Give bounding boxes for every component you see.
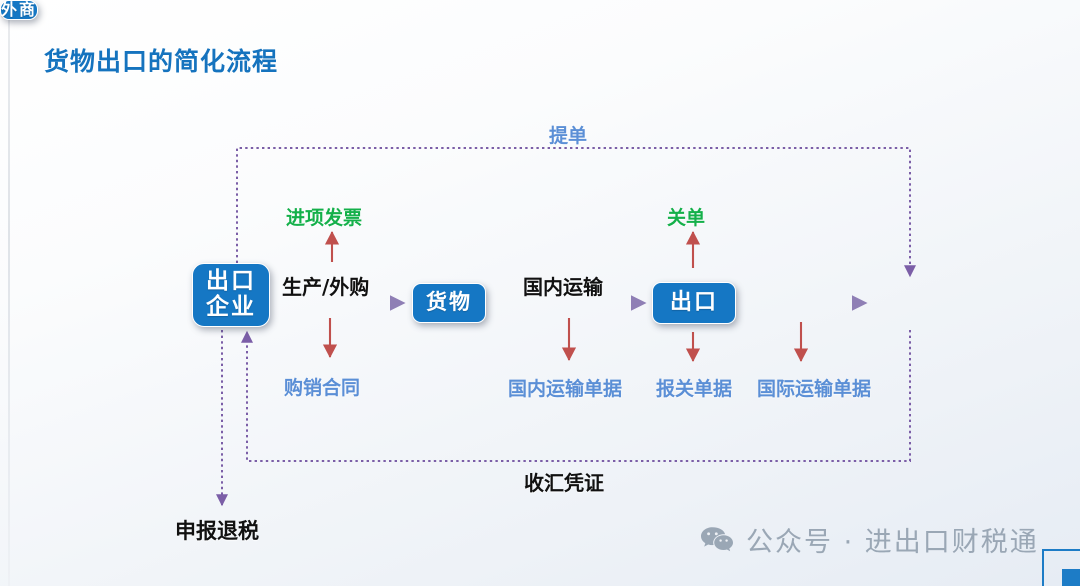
label-international-transport-doc: 国际运输单据	[757, 374, 871, 401]
wechat-icon	[700, 526, 734, 554]
label-fx-receipt-voucher: 收汇凭证	[524, 467, 604, 496]
node-exporter[interactable]: 出口 企业	[192, 263, 270, 327]
label-domestic-transport: 国内运输	[523, 271, 603, 300]
watermark: 公众号 · 进出口财税通	[700, 520, 1039, 559]
label-sales-contract: 购销合同	[284, 373, 360, 400]
label-customs-declaration: 关单	[667, 203, 705, 230]
node-foreign-buyer-label: 外商	[1, 1, 37, 19]
node-export[interactable]: 出口	[652, 282, 736, 324]
node-export-label: 出口	[670, 291, 718, 316]
corner-mark	[1042, 549, 1080, 586]
label-customs-declaration-doc: 报关单据	[656, 374, 732, 401]
node-exporter-line1: 出口	[206, 269, 256, 295]
label-production-or-purchase: 生产/外购	[282, 271, 369, 300]
slide-canvas: 货物出口的简化流程	[0, 0, 1080, 586]
node-goods[interactable]: 货物	[412, 283, 486, 323]
node-foreign-buyer[interactable]: 外商	[0, 0, 38, 20]
label-tax-refund-declaration: 申报退税	[175, 515, 259, 545]
label-domestic-transport-doc: 国内运输单据	[508, 374, 622, 401]
node-goods-label: 货物	[426, 291, 472, 315]
node-exporter-line2: 企业	[206, 295, 256, 321]
watermark-text: 公众号 · 进出口财税通	[746, 520, 1039, 559]
label-input-invoice: 进项发票	[286, 203, 362, 230]
corner-mark-fill	[1062, 569, 1080, 586]
label-bill-of-lading: 提单	[549, 121, 587, 148]
